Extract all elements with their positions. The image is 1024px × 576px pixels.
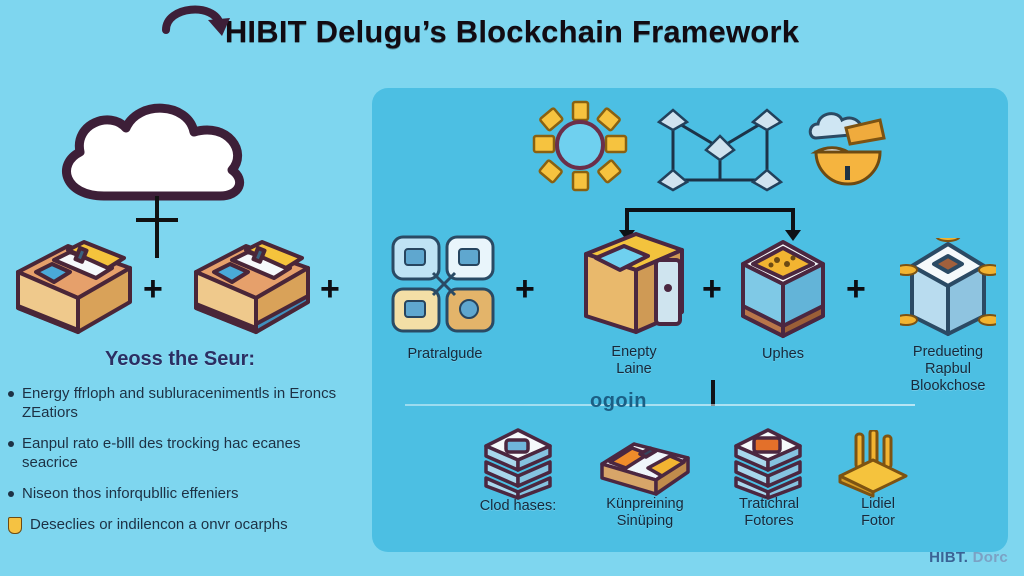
cloud-connector-cross [136,218,178,222]
bottom-label-3: Tratichral Fotores [706,496,832,530]
middle-label-3: Uphes [723,346,843,363]
connector-tick [711,380,715,406]
watermark: HIBT. Dorc [929,549,1008,566]
center-label: ogoin [590,390,647,413]
cloud-connector-line [155,196,159,258]
gold-pillars-icon [834,430,912,503]
app-grid-icon [389,233,499,342]
benefit-list: Energy ffrloph and subluracenimentls in … [8,384,358,546]
list-item-label: Energy ffrloph and subluracenimentls in … [22,384,358,422]
connector-horizontal [625,208,795,212]
package-box-icon [186,228,316,343]
server-block-icon [578,228,690,345]
bottom-label-1: Clod hases: [455,498,581,515]
bullet-dot-icon [8,441,14,447]
refresh-arrow-icon [160,0,230,44]
list-item-label: Eanpul rato e-blll des trocking hac ecan… [22,434,358,472]
package-box-icon [8,228,138,343]
left-section-heading: Yeoss the Seur: [0,348,360,371]
middle-label-4: Predueting Rapbul Blookchose [884,344,1012,395]
page-title: HIBIT Delugu’s Blockchain Framework [0,14,1024,50]
watermark-sub: Dorc [973,549,1008,566]
section-divider [405,404,915,406]
gold-vault-icon [735,238,831,345]
watermark-main: HIBT. [929,549,968,566]
list-item-label: Deseclies or indilencon a onvr ocarphs [30,515,358,534]
plus-sign-4: + [702,272,722,306]
stacked-layers-icon [480,428,556,505]
stacked-blocks-icon [730,428,806,505]
list-item: Niseon thos inforqubllic effeniers [8,484,358,503]
cloud-sync-icon [42,86,292,206]
hub-sun-icon [530,100,630,197]
plus-sign-5: + [846,272,866,306]
network-nodes-icon [645,98,795,207]
bottom-label-2: Künpreining Sinüping [578,496,712,530]
list-item-label: Niseon thos inforqubllic effeniers [22,484,358,503]
ledger-cards-icon [598,438,692,505]
shield-icon [8,517,22,534]
middle-label-1: Pratralgude [380,346,510,363]
plus-sign-1: + [143,272,163,306]
plus-sign-3: + [515,272,535,306]
middle-label-2: Enepty Laine [572,344,696,378]
list-item: Deseclies or indilencon a onvr ocarphs [8,515,358,534]
bullet-dot-icon [8,491,14,497]
infographic-canvas: HIBIT Delugu’s Blockchain Framework [0,0,1024,576]
cloud-pie-icon [806,104,890,191]
plus-sign-2: + [320,272,340,306]
list-item: Energy ffrloph and subluracenimentls in … [8,384,358,422]
bullet-dot-icon [8,391,14,397]
bottom-label-4: Lidiel Fotor [824,496,932,530]
list-item: Eanpul rato e-blll des trocking hac ecan… [8,434,358,472]
coin-tower-icon [900,238,996,345]
